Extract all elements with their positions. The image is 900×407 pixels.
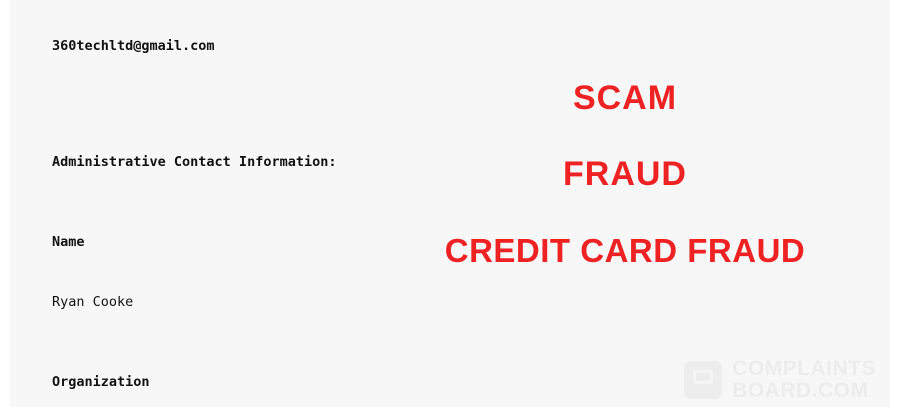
document-page: 360techltd@gmail.com Administrative Cont… (0, 0, 900, 407)
watermark-line-2: BOARD.COM (732, 381, 876, 401)
stamp-scam: SCAM (390, 78, 860, 118)
page-left-margin (0, 0, 10, 407)
complaints-board-logo-icon (684, 361, 722, 399)
fraud-stamp-overlay: SCAM FRAUD CREDIT CARD FRAUD (390, 78, 860, 271)
whois-label-organization: Organization (52, 372, 482, 392)
stamp-fraud: FRAUD (390, 154, 860, 194)
whois-value-name: Ryan Cooke (52, 292, 482, 312)
stamp-credit-card-fraud: CREDIT CARD FRAUD (390, 231, 860, 271)
page-right-margin (890, 0, 900, 407)
whois-top-email: 360techltd@gmail.com (52, 36, 482, 56)
watermark-line-1: COMPLAINTS (732, 357, 876, 380)
complaints-board-watermark: COMPLAINTS BOARD.COM (684, 359, 876, 401)
watermark-text: COMPLAINTS BOARD.COM (732, 359, 876, 401)
